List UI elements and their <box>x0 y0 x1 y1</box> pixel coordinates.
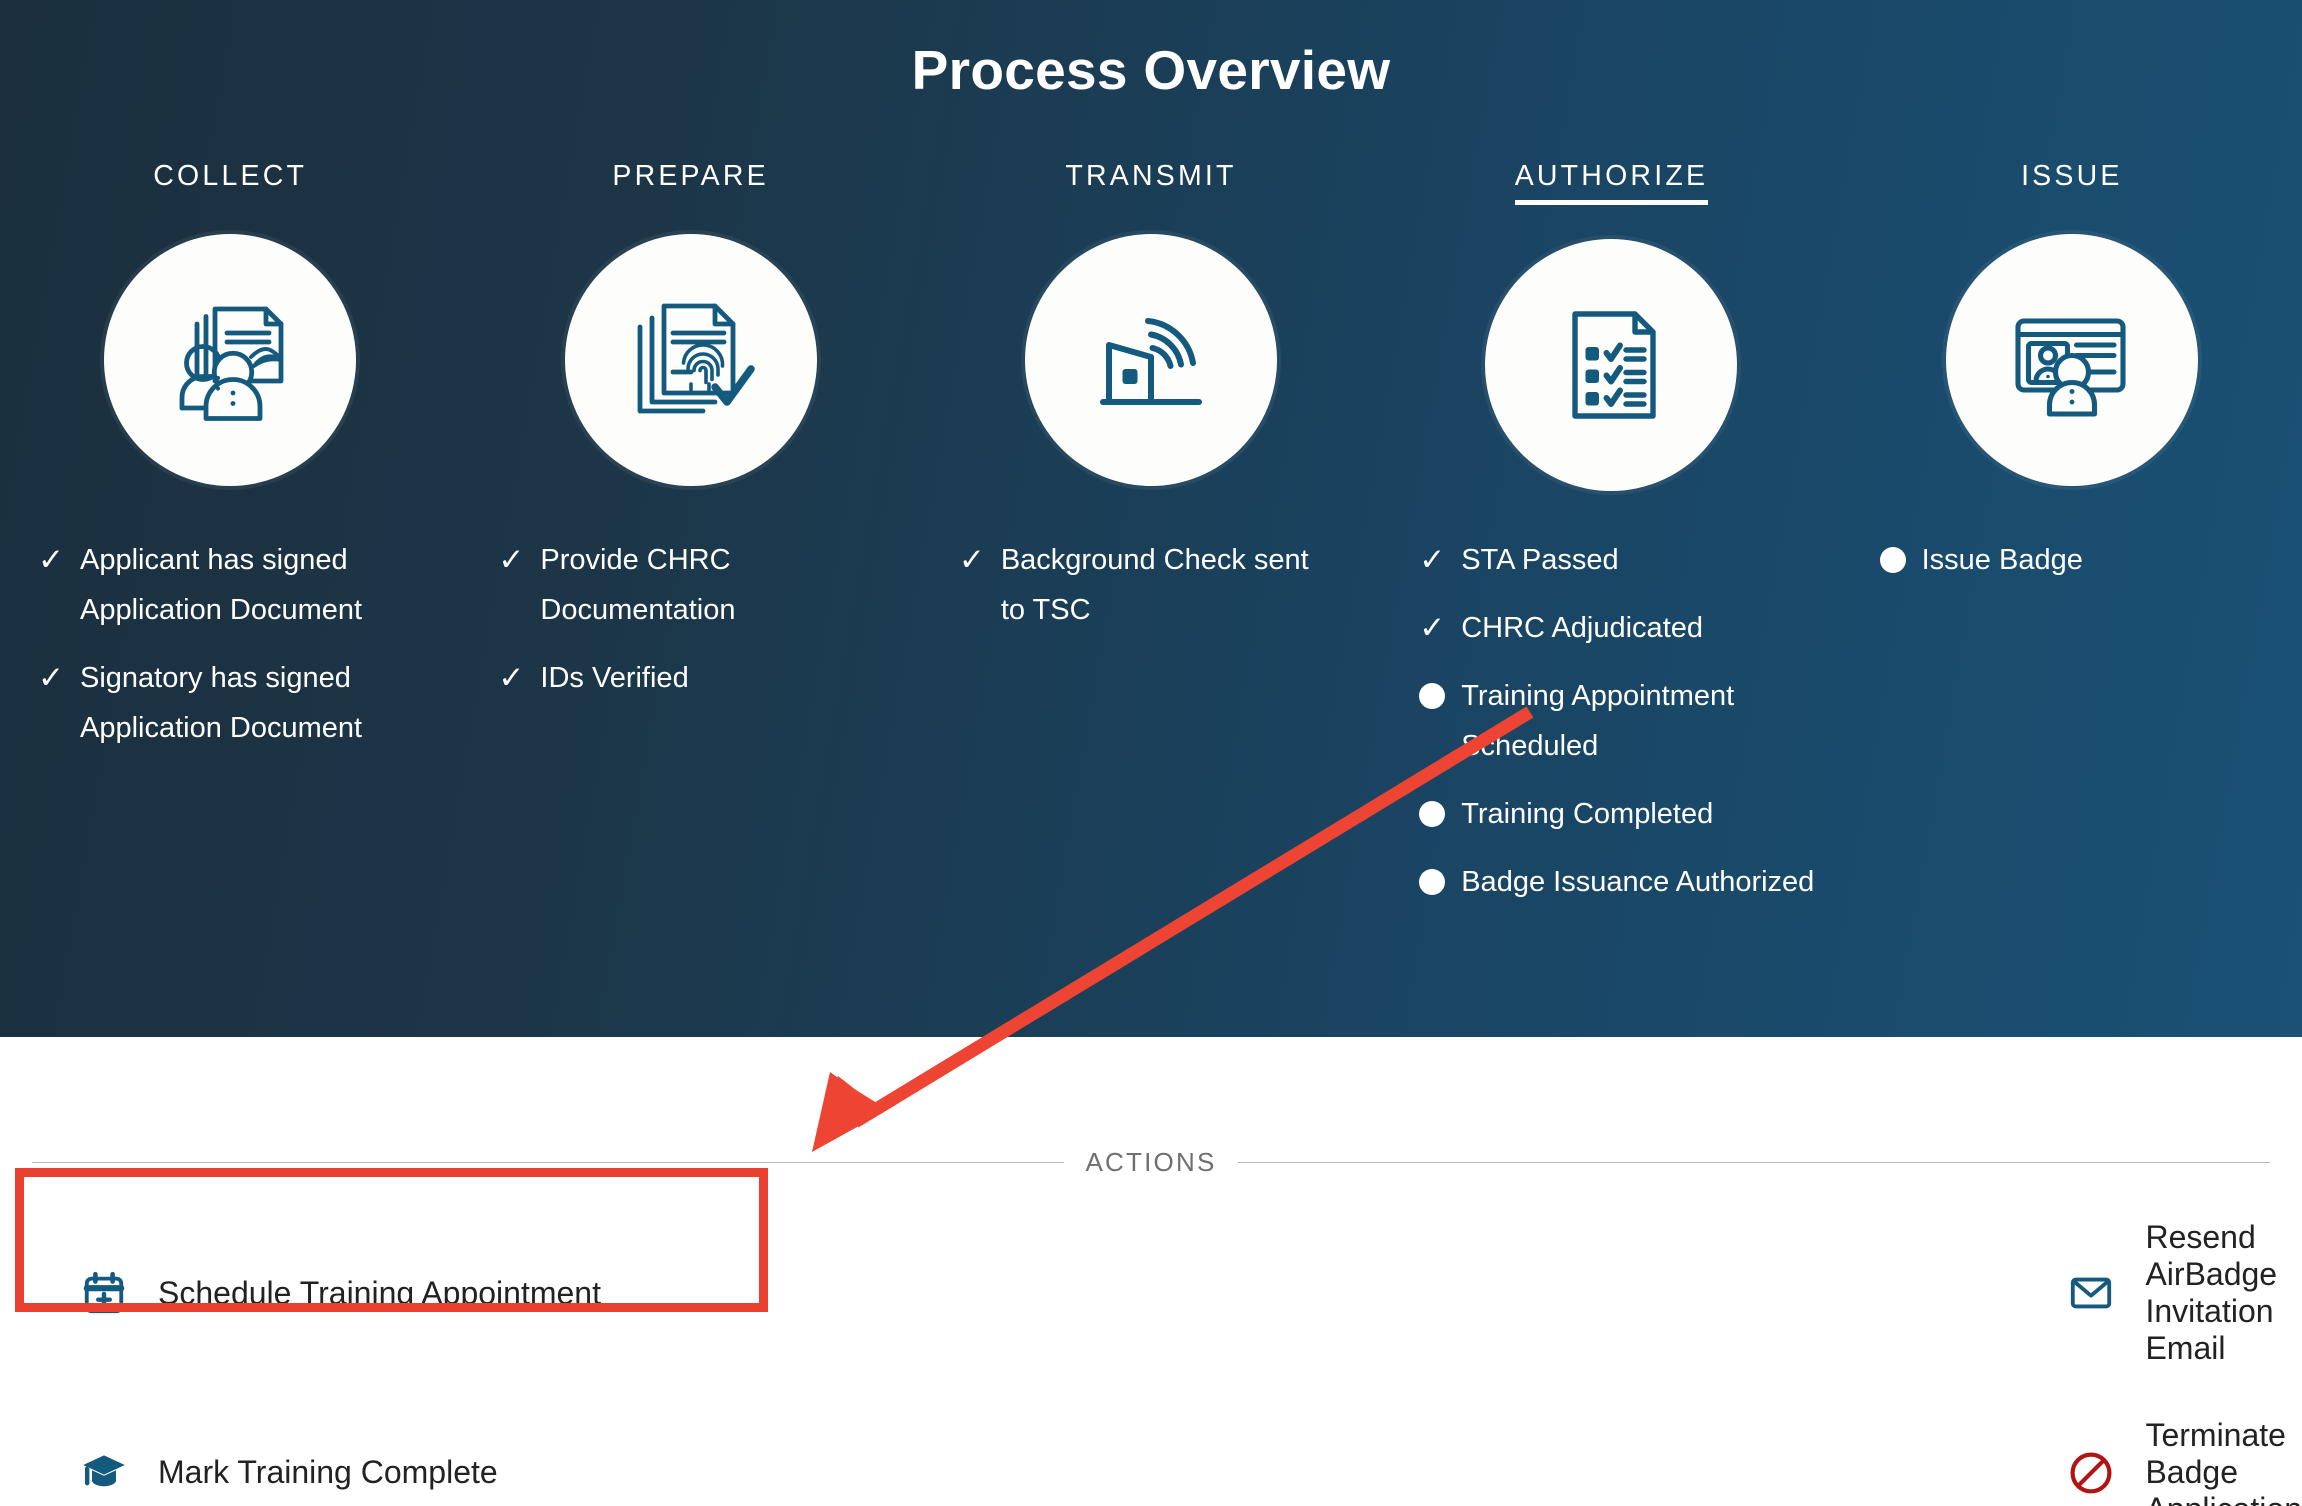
step-label-transmit: TRANSMIT <box>1065 160 1236 200</box>
checklist-item: ✓ Background Check sent to TSC <box>959 535 1369 635</box>
process-steps: COLLECT <box>0 160 2302 491</box>
actions-list: Schedule Training Appointment Resend Air… <box>0 1205 2302 1506</box>
checklist-item: ✓ Signatory has signed Application Docum… <box>38 653 448 753</box>
pending-dot-icon <box>1419 857 1461 907</box>
checklist-item: Training Completed <box>1419 789 1829 839</box>
process-checklists: ✓ Applicant has signed Application Docum… <box>0 535 2302 925</box>
step-label-issue: ISSUE <box>2021 160 2123 200</box>
checklist-item-label: IDs Verified <box>540 653 688 703</box>
checklist-authorize: ✓ STA Passed ✓ CHRC Adjudicated Training… <box>1381 535 1841 925</box>
step-label-collect: COLLECT <box>153 160 307 200</box>
action-mark-training-complete[interactable]: Mark Training Complete <box>0 1403 843 1506</box>
check-icon: ✓ <box>1419 603 1461 653</box>
checklist-item-label: Badge Issuance Authorized <box>1461 857 1814 907</box>
action-terminate-badge-application[interactable]: Terminate Badge Application <box>843 1403 2302 1506</box>
process-step-issue[interactable]: ISSUE <box>1842 160 2302 491</box>
divider-rule-left <box>32 1162 1064 1163</box>
checklist-item-label: Issue Badge <box>1922 535 2083 585</box>
step-label-authorize: AUTHORIZE <box>1515 160 1708 205</box>
checklist-transmit: ✓ Background Check sent to TSC <box>921 535 1381 653</box>
calendar-plus-icon <box>78 1267 130 1319</box>
action-resend-invitation-email[interactable]: Resend AirBadge Invitation Email <box>843 1205 2302 1381</box>
checklist-item: Badge Issuance Authorized <box>1419 857 1829 907</box>
step-icon-collect <box>104 234 356 486</box>
checklist-prepare: ✓ Provide CHRC Documentation ✓ IDs Verif… <box>460 535 920 721</box>
checklist-document-icon <box>1536 290 1686 440</box>
checklist-item-label: Applicant has signed Application Documen… <box>80 535 420 635</box>
step-icon-authorize <box>1485 239 1737 491</box>
pending-dot-icon <box>1880 535 1922 585</box>
fingerprint-documents-icon <box>616 285 766 435</box>
graduation-cap-icon <box>78 1447 130 1499</box>
process-step-authorize[interactable]: AUTHORIZE <box>1381 160 1841 491</box>
checklist-item: ✓ Applicant has signed Application Docum… <box>38 535 448 635</box>
actions-section: ACTIONS Schedule Training Appointment <box>0 1037 2302 1506</box>
checklist-collect: ✓ Applicant has signed Application Docum… <box>0 535 460 771</box>
step-icon-issue <box>1946 234 2198 486</box>
process-step-transmit[interactable]: TRANSMIT <box>921 160 1381 491</box>
process-step-prepare[interactable]: PREPARE <box>460 160 920 491</box>
checklist-item-label: Training Appointment Scheduled <box>1461 671 1821 771</box>
laptop-wifi-icon <box>1076 285 1226 435</box>
checklist-item-label: CHRC Adjudicated <box>1461 603 1703 653</box>
divider-rule-right <box>1238 1162 2270 1163</box>
check-icon: ✓ <box>1419 535 1461 585</box>
checklist-item-label: Signatory has signed Application Documen… <box>80 653 420 753</box>
page-title: Process Overview <box>0 38 2302 102</box>
checklist-item-label: Background Check sent to TSC <box>1001 535 1341 635</box>
action-label: Schedule Training Appointment <box>158 1275 601 1312</box>
checklist-item-label: Training Completed <box>1461 789 1713 839</box>
process-overview-screen: Process Overview COLLECT <box>0 0 2302 1506</box>
pending-dot-icon <box>1419 671 1461 721</box>
actions-divider-label: ACTIONS <box>1086 1147 1217 1178</box>
prohibited-icon <box>2065 1447 2117 1499</box>
process-overview-panel: Process Overview COLLECT <box>0 0 2302 1037</box>
envelope-icon <box>2065 1267 2117 1319</box>
id-badge-icon <box>1997 285 2147 435</box>
action-label: Resend AirBadge Invitation Email <box>2145 1219 2302 1367</box>
checklist-item: Issue Badge <box>1880 535 2290 585</box>
actions-divider: ACTIONS <box>32 1147 2270 1178</box>
action-label: Mark Training Complete <box>158 1454 498 1491</box>
signed-documents-icon <box>155 285 305 435</box>
check-icon: ✓ <box>959 535 1001 585</box>
checklist-item-label: Provide CHRC Documentation <box>540 535 880 635</box>
check-icon: ✓ <box>498 535 540 585</box>
checklist-item: Training Appointment Scheduled <box>1419 671 1829 771</box>
step-icon-transmit <box>1025 234 1277 486</box>
pending-dot-icon <box>1419 789 1461 839</box>
checklist-item: ✓ Provide CHRC Documentation <box>498 535 908 635</box>
checklist-issue: Issue Badge <box>1842 535 2302 603</box>
checklist-item: ✓ STA Passed <box>1419 535 1829 585</box>
step-icon-prepare <box>565 234 817 486</box>
action-schedule-training-appointment[interactable]: Schedule Training Appointment <box>0 1205 843 1381</box>
check-icon: ✓ <box>498 653 540 703</box>
checklist-item: ✓ CHRC Adjudicated <box>1419 603 1829 653</box>
check-icon: ✓ <box>38 535 80 585</box>
action-label: Terminate Badge Application <box>2145 1417 2302 1506</box>
checklist-item-label: STA Passed <box>1461 535 1618 585</box>
check-icon: ✓ <box>38 653 80 703</box>
checklist-item: ✓ IDs Verified <box>498 653 908 703</box>
step-label-prepare: PREPARE <box>612 160 769 200</box>
process-step-collect[interactable]: COLLECT <box>0 160 460 491</box>
